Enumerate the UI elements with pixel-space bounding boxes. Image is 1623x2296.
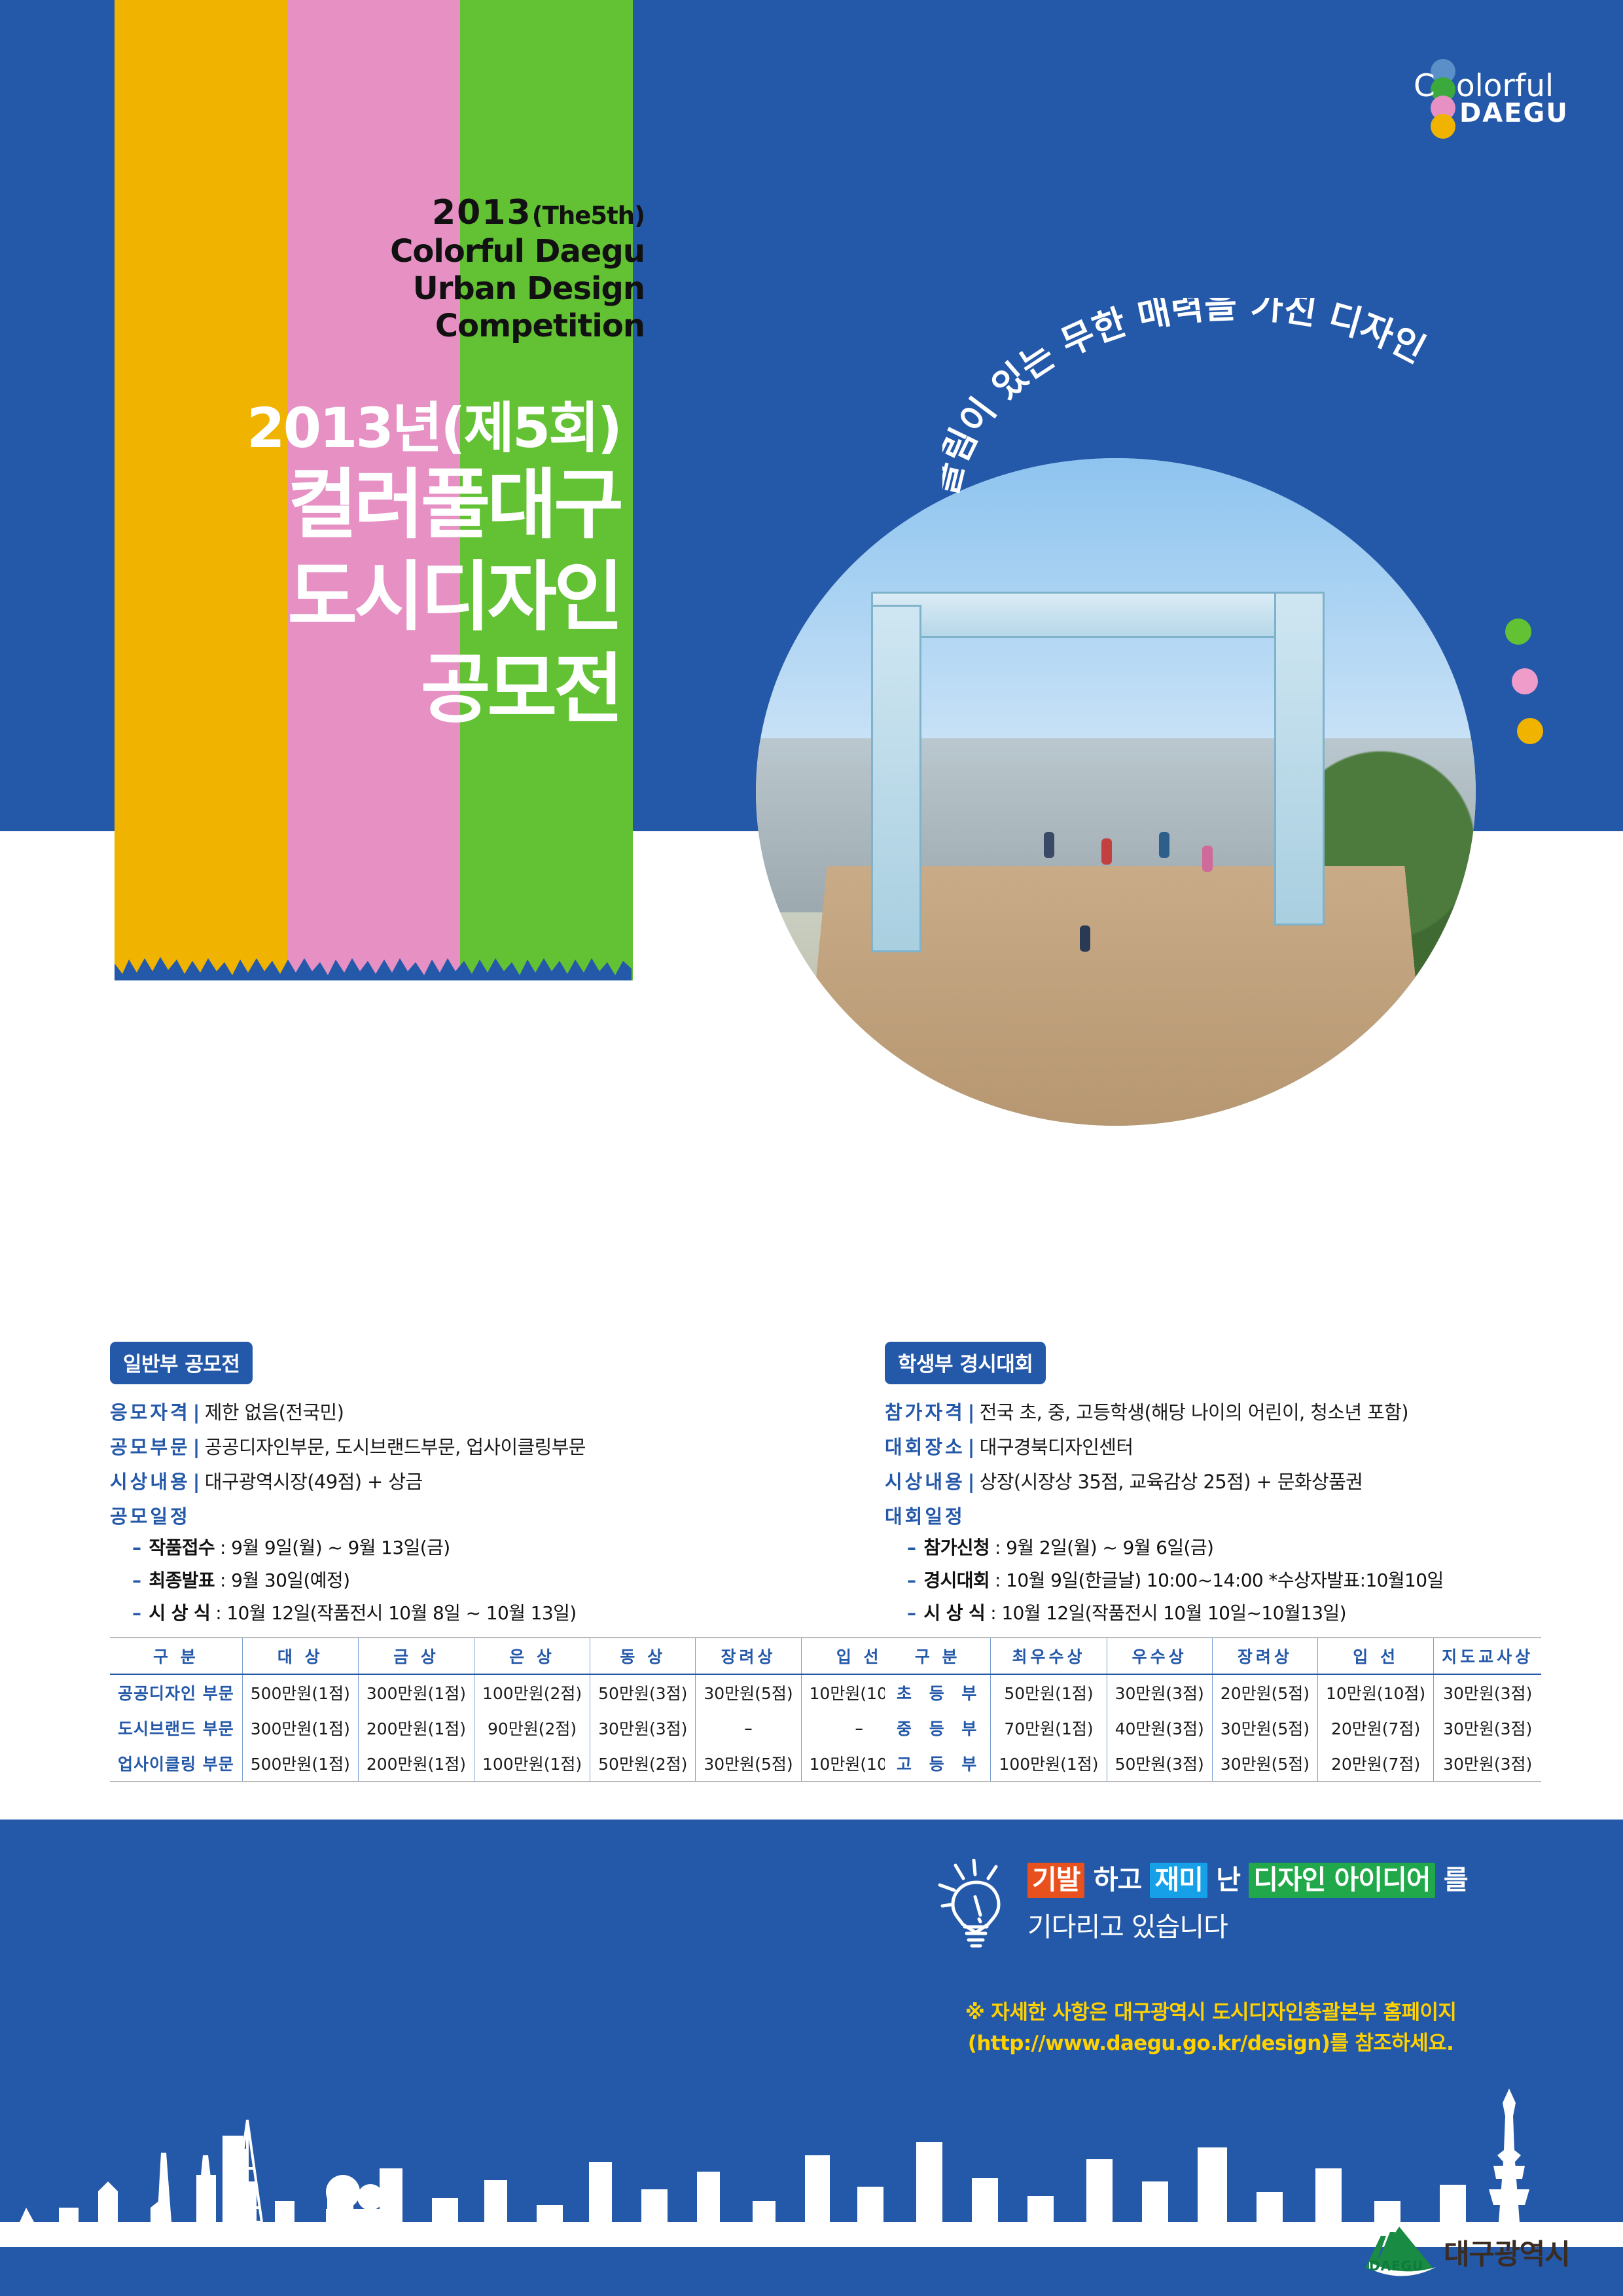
english-title-year-line: 2013(The5th)	[370, 193, 645, 233]
dash-bullet: –	[132, 1537, 141, 1558]
table-row: 초 등 부 50만원(1점) 30만원(3점) 20만원(5점) 10만원(10…	[885, 1674, 1541, 1710]
table-row: 공공디자인 부문 500만원(1점) 300만원(1점) 100만원(2점) 5…	[110, 1674, 917, 1710]
info-row: 응모자격|제한 없음(전국민)	[110, 1397, 830, 1425]
table-cell: 30만원(5점)	[696, 1746, 801, 1782]
table-cell: 50만원(3점)	[590, 1674, 696, 1710]
city-logo-sub: DAEGU	[1369, 2258, 1423, 2274]
korean-title-line4: 공모전	[118, 647, 620, 732]
tagline-highlight-3: 디자인 아이디어	[1249, 1863, 1435, 1898]
photo-gate-left	[871, 605, 921, 952]
table-header-cell: 은 상	[474, 1638, 590, 1674]
general-division-badge: 일반부 공모전	[110, 1342, 253, 1384]
schedule-name: 시 상 식	[923, 1599, 985, 1625]
table-row-label: 도시브랜드 부문	[110, 1710, 242, 1746]
tagline-mid-1: 하고	[1094, 1864, 1141, 1895]
photo-person	[1159, 832, 1169, 858]
poster-root: Colorful DAEGU 2013(The5th) Colorful Dae…	[0, 0, 1623, 2296]
table-row-label: 중 등 부	[885, 1710, 991, 1746]
photo-gate-right	[1274, 592, 1325, 925]
table-cell: 300만원(1점)	[242, 1710, 358, 1746]
table-cell: 70만원(1점)	[991, 1710, 1107, 1746]
table-cell: 50만원(1점)	[991, 1674, 1107, 1710]
table-row-label: 업사이클링 부문	[110, 1746, 242, 1782]
label-separator: |	[193, 1471, 200, 1493]
schedule-name: 시 상 식	[149, 1599, 210, 1625]
schedule-item: –시 상 식: 10월 12일(작품전시 10월 8일 ~ 10월 13일)	[110, 1599, 830, 1625]
schedule-name: 작품접수	[149, 1534, 215, 1560]
student-schedule-title: 대회일정	[885, 1501, 1552, 1529]
student-division-rows: 참가자격|전국 초, 중, 고등학생(해당 나이의 어린이, 청소년 포함) 대…	[885, 1397, 1552, 1625]
side-accent-dots	[1505, 619, 1543, 768]
table-header-row: 구 분 대 상 금 상 은 상 동 상 장려상 입 선	[110, 1638, 917, 1674]
info-value: 대구경북디자인센터	[980, 1432, 1133, 1460]
label-separator: |	[193, 1436, 200, 1458]
table-cell: 50만원(3점)	[1107, 1746, 1212, 1782]
tagline-tail: 를	[1444, 1864, 1468, 1895]
table-header-cell: 장려상	[1212, 1638, 1317, 1674]
student-division-badge: 학생부 경시대회	[885, 1342, 1046, 1384]
tagline-highlight-2: 재미	[1150, 1863, 1207, 1898]
tagline-line1: 기발 하고 재미 난 디자인 아이디어 를	[1027, 1857, 1468, 1897]
korean-title-line1: 2013년(제5회)	[118, 401, 620, 456]
general-schedule-title: 공모일정	[110, 1501, 830, 1529]
info-row: 대회장소|대구경북디자인센터	[885, 1432, 1552, 1460]
table-header-cell: 지도교사상	[1434, 1638, 1542, 1674]
tagline-mid-2: 난	[1216, 1864, 1240, 1895]
info-row: 시상내용|대구광역시장(49점) + 상금	[110, 1467, 830, 1494]
info-row: 공모부문|공공디자인부문, 도시브랜드부문, 업사이클링부문	[110, 1432, 830, 1460]
schedule-name: 참가신청	[923, 1534, 990, 1560]
info-value: 대구광역시장(49점) + 상금	[205, 1467, 423, 1494]
info-value: 전국 초, 중, 고등학생(해당 나이의 어린이, 청소년 포함)	[980, 1397, 1408, 1425]
schedule-name: 최종발표	[149, 1566, 215, 1592]
table-cell: 30만원(3점)	[590, 1710, 696, 1746]
table-row: 고 등 부 100만원(1점) 50만원(3점) 30만원(5점) 20만원(7…	[885, 1746, 1541, 1782]
table-cell: 500만원(1점)	[242, 1746, 358, 1782]
photo-person	[1101, 838, 1112, 865]
student-award-table: 구 분 최우수상 우수상 장려상 입 선 지도교사상 초 등 부 50만원(1점…	[885, 1637, 1541, 1782]
side-dot-yellow	[1517, 718, 1543, 744]
dash-bullet: –	[132, 1602, 141, 1624]
dash-bullet: –	[907, 1537, 916, 1558]
side-dot-pink	[1512, 668, 1538, 694]
table-cell: 100만원(1점)	[991, 1746, 1107, 1782]
table-cell: 500만원(1점)	[242, 1674, 358, 1710]
tagline-highlight-1: 기발	[1027, 1863, 1084, 1898]
info-label: 공모부문	[110, 1432, 190, 1460]
general-award-table: 구 분 대 상 금 상 은 상 동 상 장려상 입 선 공공디자인 부문 500…	[110, 1637, 917, 1782]
table-cell: 10만원(10점)	[1318, 1674, 1434, 1710]
student-division-section: 학생부 경시대회 참가자격|전국 초, 중, 고등학생(해당 나이의 어린이, …	[885, 1342, 1552, 1782]
info-value: 공공디자인부문, 도시브랜드부문, 업사이클링부문	[205, 1432, 586, 1460]
table-cell: 20만원(5점)	[1212, 1674, 1317, 1710]
lightbulb-icon	[936, 1859, 1021, 1957]
daegu-city-logo: DAEGU 대구광역시	[1360, 2221, 1576, 2284]
torn-edge	[115, 954, 632, 980]
info-label: 시상내용	[110, 1467, 190, 1494]
table-cell: 20만원(7점)	[1318, 1746, 1434, 1782]
tagline-line2: 기다리고 있습니다	[1027, 1905, 1468, 1944]
info-value: 제한 없음(전국민)	[205, 1397, 344, 1425]
schedule-item: –경시대회: 10월 9일(한글날) 10:00~14:00 *수상자발표:10…	[885, 1566, 1552, 1592]
table-cell: 30만원(3점)	[1434, 1674, 1542, 1710]
schedule-value: : 9월 2일(월) ~ 9월 6일(금)	[995, 1534, 1213, 1560]
colorful-daegu-logo: Colorful DAEGU	[1402, 58, 1572, 130]
table-cell: 30만원(3점)	[1434, 1746, 1542, 1782]
label-separator: |	[968, 1471, 974, 1493]
table-row: 도시브랜드 부문 300만원(1점) 200만원(1점) 90만원(2점) 30…	[110, 1710, 917, 1746]
handwritten-slogan: 끌림이 있는 무한 매력을 가진 디자인	[942, 298, 1571, 625]
table-cell: 200만원(1점)	[358, 1710, 474, 1746]
photo-person	[1044, 832, 1054, 858]
table-cell: 30만원(5점)	[1212, 1710, 1317, 1746]
korean-title-line2: 컬러풀대구	[118, 462, 620, 548]
table-cell: 20만원(7점)	[1318, 1710, 1434, 1746]
logo-text-daegu: DAEGU	[1459, 98, 1569, 128]
info-label: 시상내용	[885, 1467, 965, 1494]
table-cell: 30만원(3점)	[1434, 1710, 1542, 1746]
schedule-name: 경시대회	[923, 1566, 990, 1592]
schedule-value: : 9월 30일(예정)	[220, 1566, 349, 1592]
schedule-value: : 10월 12일(작품전시 10월 8일 ~ 10월 13일)	[215, 1599, 576, 1625]
table-header-cell: 구 분	[885, 1638, 991, 1674]
table-cell: 100만원(1점)	[474, 1746, 590, 1782]
handwritten-slogan-text: 끌림이 있는 무한 매력을 가진 디자인	[942, 298, 1432, 499]
english-title-line4: Competition	[370, 308, 645, 345]
schedule-item: –작품접수: 9월 9일(월) ~ 9월 13일(금)	[110, 1534, 830, 1560]
table-header-cell: 대 상	[242, 1638, 358, 1674]
english-title-line3: Urban Design	[370, 270, 645, 308]
english-title-line2: Colorful Daegu	[370, 233, 645, 270]
table-header-cell: 입 선	[1318, 1638, 1434, 1674]
schedule-value: : 9월 9일(월) ~ 9월 13일(금)	[220, 1534, 450, 1560]
schedule-value: : 10월 9일(한글날) 10:00~14:00 *수상자발표:10월10일	[995, 1566, 1444, 1592]
table-cell: 30만원(5점)	[696, 1674, 801, 1710]
dash-bullet: –	[132, 1570, 141, 1591]
footnote-block: ※ 자세한 사항은 대구광역시 도시디자인총괄본부 홈페이지 (http://w…	[929, 1998, 1492, 2058]
label-separator: |	[193, 1401, 200, 1424]
footnote-line2[interactable]: (http://www.daegu.go.kr/design)를 참조하세요.	[929, 2028, 1492, 2059]
label-separator: |	[968, 1401, 974, 1424]
info-row: 시상내용|상장(시장상 35점, 교육감상 25점) + 문화상품권	[885, 1467, 1552, 1494]
table-cell: 30만원(5점)	[1212, 1746, 1317, 1782]
logo-dot-yellow	[1431, 114, 1455, 139]
tagline-block: 기발 하고 재미 난 디자인 아이디어 를 기다리고 있습니다	[942, 1857, 1468, 1944]
footnote-line1: ※ 자세한 사항은 대구광역시 도시디자인총괄본부 홈페이지	[929, 1998, 1492, 2028]
korean-title: 2013년(제5회) 컬러풀대구 도시디자인 공모전	[118, 401, 635, 732]
table-header-cell: 최우수상	[991, 1638, 1107, 1674]
korean-title-line3: 도시디자인	[118, 554, 620, 640]
info-value: 상장(시장상 35점, 교육감상 25점) + 문화상품권	[980, 1467, 1363, 1494]
table-header-cell: 우수상	[1107, 1638, 1212, 1674]
table-row-label: 고 등 부	[885, 1746, 991, 1782]
table-cell: 300만원(1점)	[358, 1674, 474, 1710]
table-cell: 40만원(3점)	[1107, 1710, 1212, 1746]
table-header-row: 구 분 최우수상 우수상 장려상 입 선 지도교사상	[885, 1638, 1541, 1674]
dash-bullet: –	[907, 1570, 916, 1591]
schedule-item: –참가신청: 9월 2일(월) ~ 9월 6일(금)	[885, 1534, 1552, 1560]
table-cell: –	[696, 1710, 801, 1746]
table-row-label: 초 등 부	[885, 1674, 991, 1710]
schedule-value: : 10월 12일(작품전시 10월 10일~10월13일)	[990, 1599, 1346, 1625]
logo-text-colorful: Colorful	[1414, 71, 1554, 101]
english-title: 2013(The5th) Colorful Daegu Urban Design…	[370, 193, 645, 344]
general-division-rows: 응모자격|제한 없음(전국민) 공모부문|공공디자인부문, 도시브랜드부문, 업…	[110, 1397, 830, 1625]
info-row: 참가자격|전국 초, 중, 고등학생(해당 나이의 어린이, 청소년 포함)	[885, 1397, 1552, 1425]
table-row: 중 등 부 70만원(1점) 40만원(3점) 30만원(5점) 20만원(7점…	[885, 1710, 1541, 1746]
schedule-item: –최종발표: 9월 30일(예정)	[110, 1566, 830, 1592]
city-logo-name: 대구광역시	[1444, 2232, 1570, 2272]
label-separator: |	[968, 1436, 974, 1458]
table-row: 업사이클링 부문 500만원(1점) 200만원(1점) 100만원(1점) 5…	[110, 1746, 917, 1782]
table-header-cell: 구 분	[110, 1638, 242, 1674]
general-division-section: 일반부 공모전 응모자격|제한 없음(전국민) 공모부문|공공디자인부문, 도시…	[110, 1342, 830, 1782]
table-header-cell: 금 상	[358, 1638, 474, 1674]
table-header-cell: 장려상	[696, 1638, 801, 1674]
photo-person	[1080, 925, 1090, 952]
dash-bullet: –	[907, 1602, 916, 1624]
table-cell: 200만원(1점)	[358, 1746, 474, 1782]
table-cell: 100만원(2점)	[474, 1674, 590, 1710]
table-cell: 90만원(2점)	[474, 1710, 590, 1746]
info-label: 대회장소	[885, 1432, 965, 1460]
table-row-label: 공공디자인 부문	[110, 1674, 242, 1710]
table-header-cell: 동 상	[590, 1638, 696, 1674]
info-label: 참가자격	[885, 1397, 965, 1425]
table-cell: 50만원(2점)	[590, 1746, 696, 1782]
photo-person	[1202, 846, 1213, 872]
schedule-item: –시 상 식: 10월 12일(작품전시 10월 10일~10월13일)	[885, 1599, 1552, 1625]
info-label: 응모자격	[110, 1397, 190, 1425]
table-cell: 30만원(3점)	[1107, 1674, 1212, 1710]
